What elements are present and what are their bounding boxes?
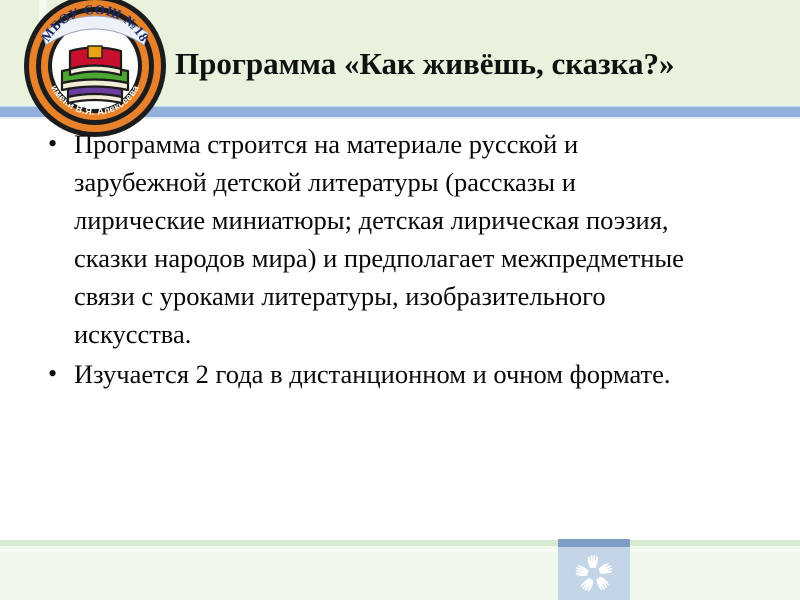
bullet-marker: • bbox=[48, 125, 57, 163]
list-item: • Изучается 2 года в дистанционном и очн… bbox=[34, 355, 684, 393]
list-item: • Программа строится на материале русско… bbox=[34, 125, 684, 353]
school-logo: МБОУ СОШ №18 имени В.Я. Алексеева bbox=[22, 0, 168, 139]
hands-circle-icon bbox=[568, 552, 620, 596]
bullet-marker: • bbox=[48, 355, 57, 393]
list-item-text: Программа строится на материале русской … bbox=[74, 129, 684, 349]
book-stack-icon bbox=[62, 46, 128, 103]
footer-top-rule bbox=[0, 540, 800, 546]
emblem-cap bbox=[558, 539, 630, 547]
hands-flower-emblem bbox=[558, 539, 630, 600]
slide-content: • Программа строится на материале русско… bbox=[0, 125, 800, 535]
slide: МБОУ СОШ №18 имени В.Я. Алексеева bbox=[0, 0, 800, 600]
list-item-text: Изучается 2 года в дистанционном и очном… bbox=[74, 359, 671, 389]
page-title: Программа «Как живёшь, сказка?» bbox=[175, 48, 790, 79]
bullet-list: • Программа строится на материале русско… bbox=[0, 125, 800, 393]
footer-highlight-rule bbox=[0, 549, 800, 552]
